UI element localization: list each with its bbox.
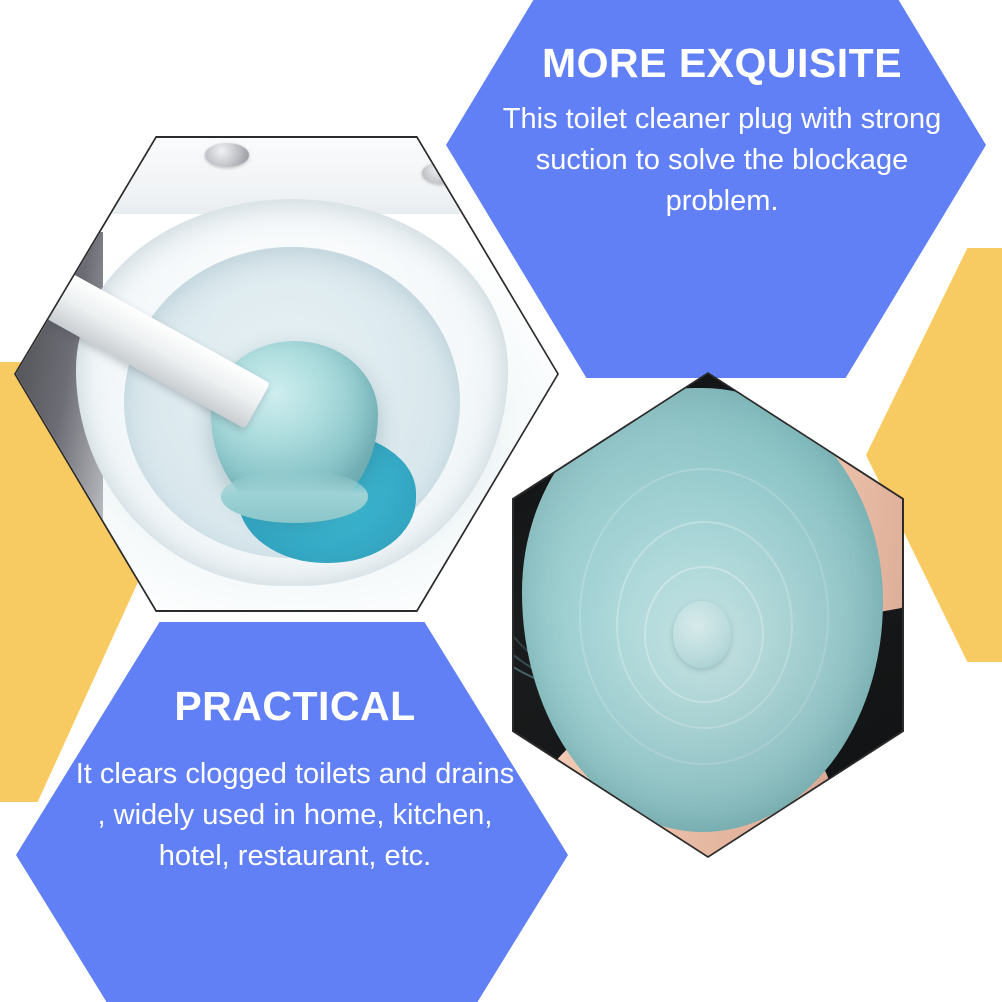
panel-practical	[16, 622, 568, 1002]
product-photo-toilet-with-plunger	[14, 136, 559, 612]
infographic-canvas: MORE EXQUISITE This toilet cleaner plug …	[0, 0, 1002, 1002]
product-photo-hand-holding-cup	[512, 372, 904, 858]
photo-content	[16, 138, 557, 610]
photo-content	[514, 374, 902, 856]
toilet-bolt-left	[205, 143, 249, 167]
